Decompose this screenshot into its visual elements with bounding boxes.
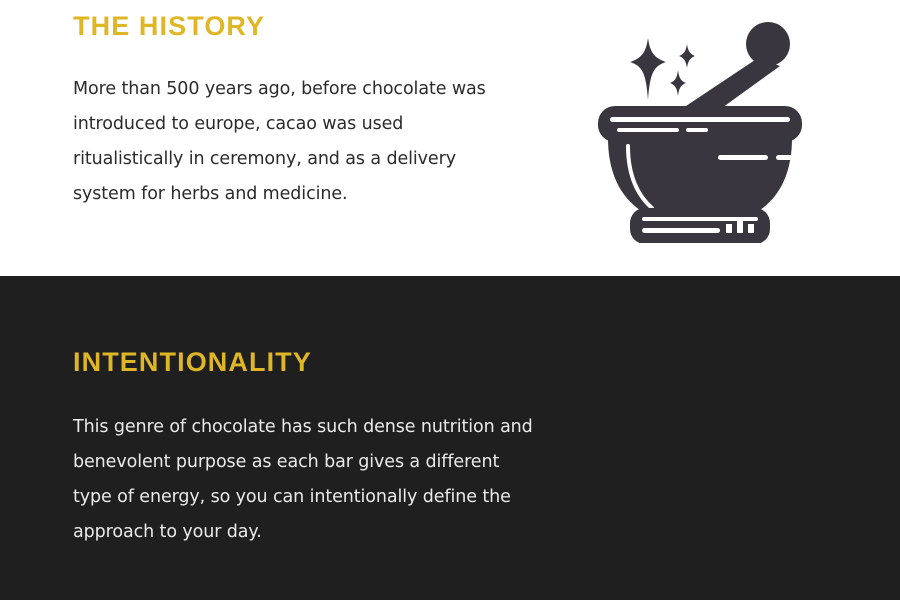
sparkle-group	[630, 38, 695, 100]
base-tick-1	[726, 224, 732, 233]
base-line-2	[642, 228, 720, 233]
history-body-text: More than 500 years ago, before chocolat…	[73, 72, 513, 212]
base-line-1	[642, 217, 758, 221]
base-tick-2	[737, 221, 743, 233]
mortar-rim	[598, 106, 802, 142]
mortar-and-pestle-icon	[590, 18, 810, 243]
history-text-column: THE HISTORY More than 500 years ago, bef…	[73, 10, 543, 212]
intentionality-body-text: This genre of chocolate has such dense n…	[73, 410, 533, 550]
base-tick-3	[748, 224, 754, 233]
infographic-page: THE HISTORY More than 500 years ago, bef…	[0, 0, 900, 600]
body-dash-1	[718, 155, 768, 160]
rim-dash-1	[617, 128, 679, 132]
intentionality-text-column: INTENTIONALITY This genre of chocolate h…	[73, 346, 543, 550]
section-intentionality: INTENTIONALITY This genre of chocolate h…	[0, 276, 900, 600]
body-dash-2	[776, 155, 796, 160]
intentionality-heading: INTENTIONALITY	[73, 346, 543, 378]
pestle-shape	[686, 22, 790, 118]
section-history: THE HISTORY More than 500 years ago, bef…	[0, 0, 900, 276]
rim-dash-2	[686, 128, 708, 132]
history-heading: THE HISTORY	[73, 10, 543, 42]
rim-line	[610, 117, 790, 122]
